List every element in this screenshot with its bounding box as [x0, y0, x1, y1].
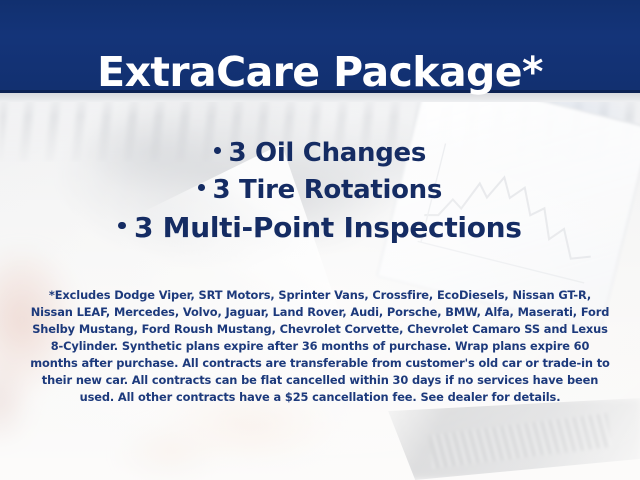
page-title: ExtraCare Package*: [0, 27, 640, 117]
list-item: 3 Oil Changes: [0, 140, 640, 166]
benefit-label: 3 Oil Changes: [228, 138, 426, 168]
bullet-icon: [118, 222, 125, 229]
list-item: 3 Tire Rotations: [0, 177, 640, 203]
extracare-package-ad: ExtraCare Package* 3 Oil Changes 3 Tire …: [0, 0, 640, 480]
list-item: 3 Multi-Point Inspections: [0, 214, 640, 242]
benefits-list: 3 Oil Changes 3 Tire Rotations 3 Multi-P…: [0, 140, 640, 242]
disclaimer-body: *Excludes Dodge Viper, SRT Motors, Sprin…: [26, 287, 614, 406]
benefit-label: 3 Multi-Point Inspections: [134, 211, 522, 244]
benefit-label: 3 Tire Rotations: [213, 175, 443, 205]
bullet-icon: [198, 184, 205, 191]
bullet-icon: [214, 147, 221, 154]
disclaimer-text: *Excludes Dodge Viper, SRT Motors, Sprin…: [26, 287, 614, 406]
